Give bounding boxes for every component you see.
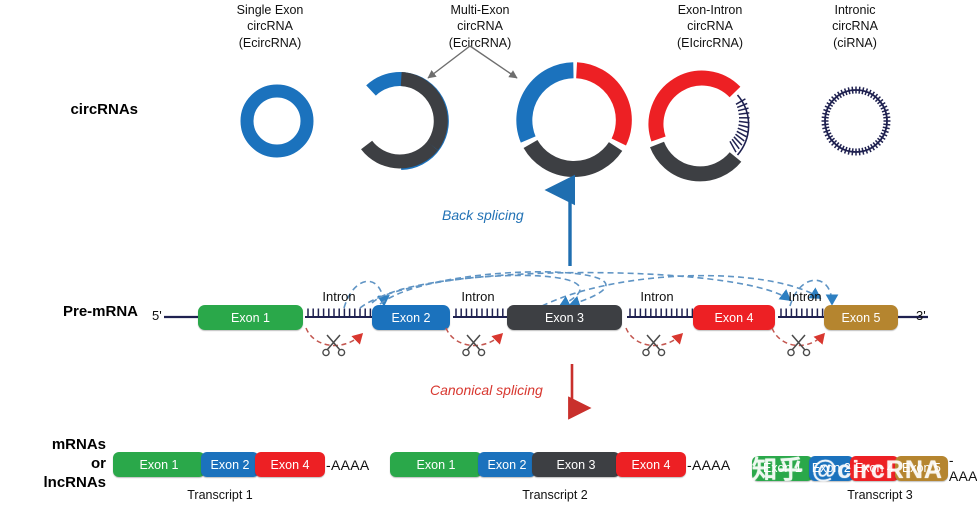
back-splicing-label: Back splicing xyxy=(442,207,524,223)
label-line-3: (ciRNA) xyxy=(790,35,920,51)
canonical-splicing-label: Canonical splicing xyxy=(430,382,543,398)
row-label-mrnas-line2: or xyxy=(8,455,106,474)
circrna-intronic-graphic xyxy=(814,79,898,163)
row-label-mrnas-lncrnas: mRNAs or lncRNAs xyxy=(8,436,106,492)
label-line-1: Exon-Intron xyxy=(640,2,780,18)
label-line-2: circRNA xyxy=(640,18,780,34)
label-exon-intron-circrna: Exon-Intron circRNA (EIcircRNA) xyxy=(640,2,780,51)
label-line-1: Intronic xyxy=(790,2,920,18)
label-line-3: (EIcircRNA) xyxy=(640,35,780,51)
transcript-1-exon-4[interactable]: Exon 4 xyxy=(255,452,325,477)
five-prime-label: 5' xyxy=(152,308,162,323)
transcript-3-polya-tail: -AAAA xyxy=(949,452,977,484)
transcript-2-exon-2[interactable]: Exon 2 xyxy=(478,452,536,477)
row-label-mrnas-line1: mRNAs xyxy=(8,436,106,455)
intron-label-1: Intron xyxy=(310,289,368,304)
row-label-circrnas: circRNAs xyxy=(8,101,138,120)
label-line-1: Multi-Exon xyxy=(415,2,545,18)
transcript-2-caption: Transcript 2 xyxy=(495,488,615,502)
transcript-2-exon-3[interactable]: Exon 3 xyxy=(532,452,620,477)
transcript-2-polya-tail: -AAAA xyxy=(687,457,731,473)
transcript-1-caption: Transcript 1 xyxy=(160,488,280,502)
transcript-2-exon-1[interactable]: Exon 1 xyxy=(390,452,482,477)
transcript-3-caption: Transcript 3 xyxy=(820,488,940,502)
label-intronic-circrna: Intronic circRNA (ciRNA) xyxy=(790,2,920,51)
intron-label-4: Intron xyxy=(776,289,834,304)
row-label-pre-mrna: Pre-mRNA xyxy=(8,303,138,322)
transcript-1-exon-2[interactable]: Exon 2 xyxy=(201,452,259,477)
transcript-1-polya-tail: -AAAA xyxy=(326,457,370,473)
label-line-1: Single Exon xyxy=(205,2,335,18)
intron-label-3: Intron xyxy=(628,289,686,304)
circrna-exon-intron-graphic xyxy=(646,67,758,179)
canonical-splice-scissors-group xyxy=(300,326,860,364)
label-line-3: (EcircRNA) xyxy=(205,35,335,51)
transcript-2-row: Exon 1 Exon 2 Exon 3 Exon 4 -AAAA xyxy=(390,452,731,477)
canonical-splicing-arrow xyxy=(557,362,587,422)
label-line-2: circRNA xyxy=(205,18,335,34)
row-label-mrnas-line3: lncRNAs xyxy=(8,474,106,493)
back-splicing-arrow xyxy=(555,178,585,268)
circrna-multi-exon-three-segment-graphic xyxy=(515,60,635,180)
transcript-2-exon-4[interactable]: Exon 4 xyxy=(616,452,686,477)
intron-label-2: Intron xyxy=(449,289,507,304)
transcript-1-row: Exon 1 Exon 2 Exon 4 -AAAA xyxy=(113,452,370,477)
label-single-exon-circrna: Single Exon circRNA (EcircRNA) xyxy=(205,2,335,51)
label-line-2: circRNA xyxy=(415,18,545,34)
three-prime-label: 3' xyxy=(916,308,926,323)
circrna-single-exon-graphic xyxy=(237,81,317,161)
premrna-exon-1[interactable]: Exon 1 xyxy=(198,305,303,330)
label-line-2: circRNA xyxy=(790,18,920,34)
zhihu-watermark: 知乎 @circRNA xyxy=(752,450,943,486)
transcript-1-exon-1[interactable]: Exon 1 xyxy=(113,452,205,477)
circrna-multi-exon-two-segment-graphic xyxy=(348,69,452,173)
